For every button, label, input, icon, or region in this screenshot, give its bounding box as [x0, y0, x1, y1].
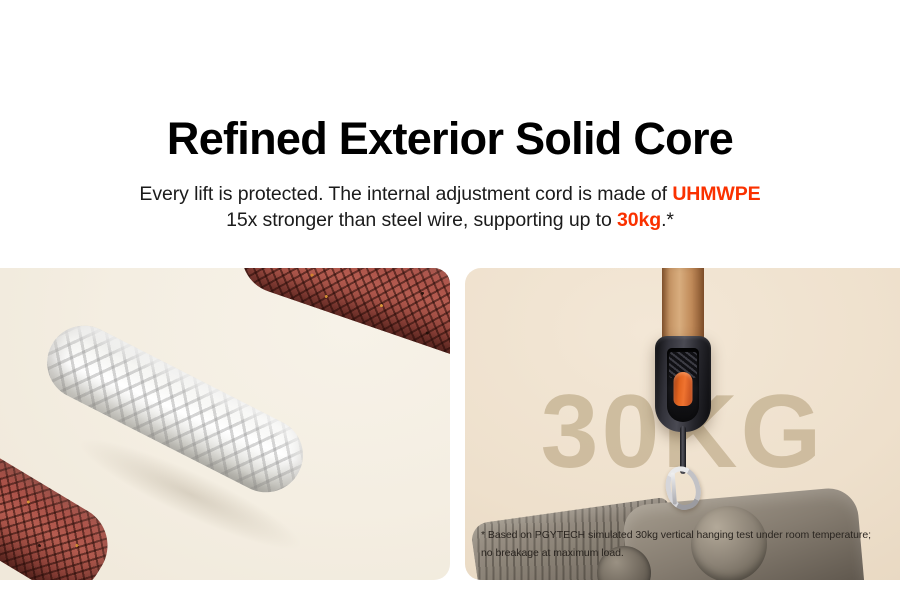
subtitle-line-2-text: 15x stronger than steel wire, supporting…	[226, 209, 617, 231]
header-block: Refined Exterior Solid Core Every lift i…	[0, 0, 900, 233]
carabiner-hook	[660, 462, 705, 514]
promo-page: Refined Exterior Solid Core Every lift i…	[0, 0, 900, 600]
subtitle-line-1-text: Every lift is protected. The internal ad…	[139, 183, 672, 205]
subtitle-line-1: Every lift is protected. The internal ad…	[0, 181, 900, 207]
accent-uhmwpe: UHMWPE	[672, 183, 760, 205]
disclaimer-footnote: * Based on PGYTECH simulated 30kg vertic…	[481, 526, 874, 562]
orange-release-button	[673, 372, 692, 406]
footnote-marker: .*	[661, 209, 674, 231]
quick-release-clip	[655, 336, 711, 432]
rope-red-sheath-upper	[231, 268, 450, 373]
accent-30kg: 30kg	[617, 209, 661, 231]
subtitle-line-2: 15x stronger than steel wire, supporting…	[0, 207, 900, 233]
subtitle: Every lift is protected. The internal ad…	[0, 166, 900, 233]
panel-hang-test: 30KG	[465, 268, 900, 580]
carabiner-ring	[660, 462, 705, 514]
panel-rope-macro	[0, 268, 450, 580]
rope-illustration	[0, 268, 450, 580]
page-title: Refined Exterior Solid Core	[0, 0, 900, 166]
image-panels-row: 30KG	[0, 268, 900, 580]
